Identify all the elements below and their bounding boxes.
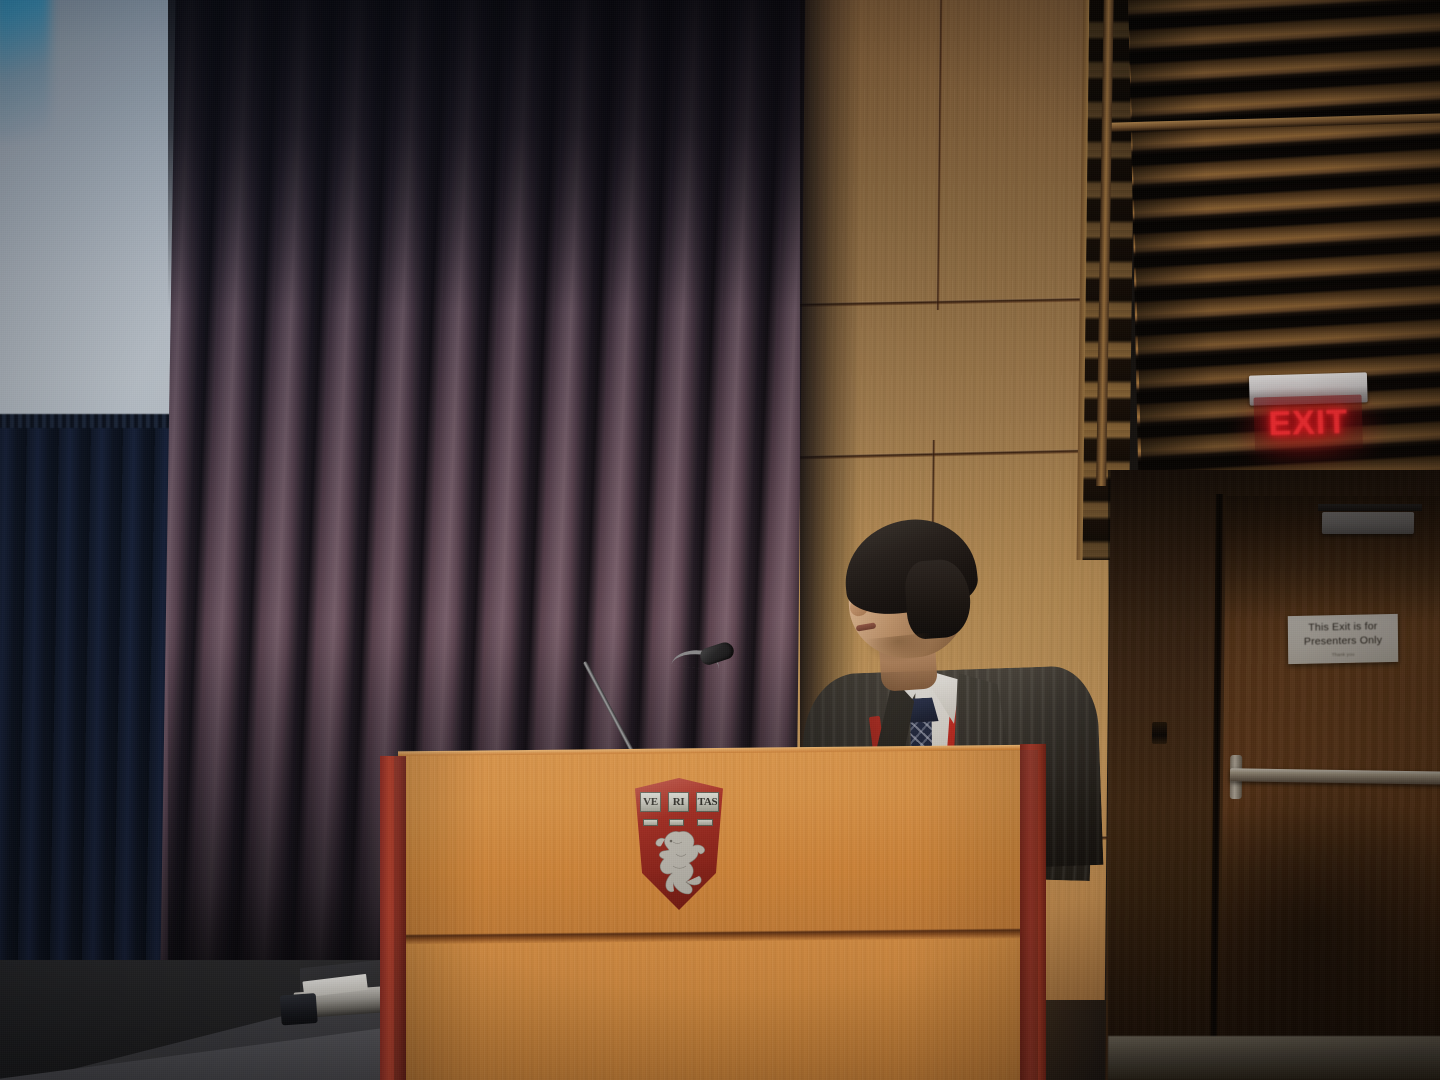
lens-flare xyxy=(0,0,50,140)
right-floor-strip xyxy=(1108,1036,1440,1080)
exit-sign-label: EXIT xyxy=(1268,405,1348,441)
auditorium-photo: EXIT This Exit is for Presenters Only Th… xyxy=(0,0,1440,1080)
equipment-case-front xyxy=(280,993,318,1025)
harvard-medical-school-crest: VE RI TAS xyxy=(635,778,723,910)
right-wall-shadow xyxy=(1108,470,1440,1080)
lectern: VE RI TAS xyxy=(380,750,1040,1080)
curtain-upper-shadow xyxy=(168,0,818,310)
exit-sign: EXIT xyxy=(1249,372,1369,455)
exit-sign-face: EXIT xyxy=(1254,395,1363,452)
